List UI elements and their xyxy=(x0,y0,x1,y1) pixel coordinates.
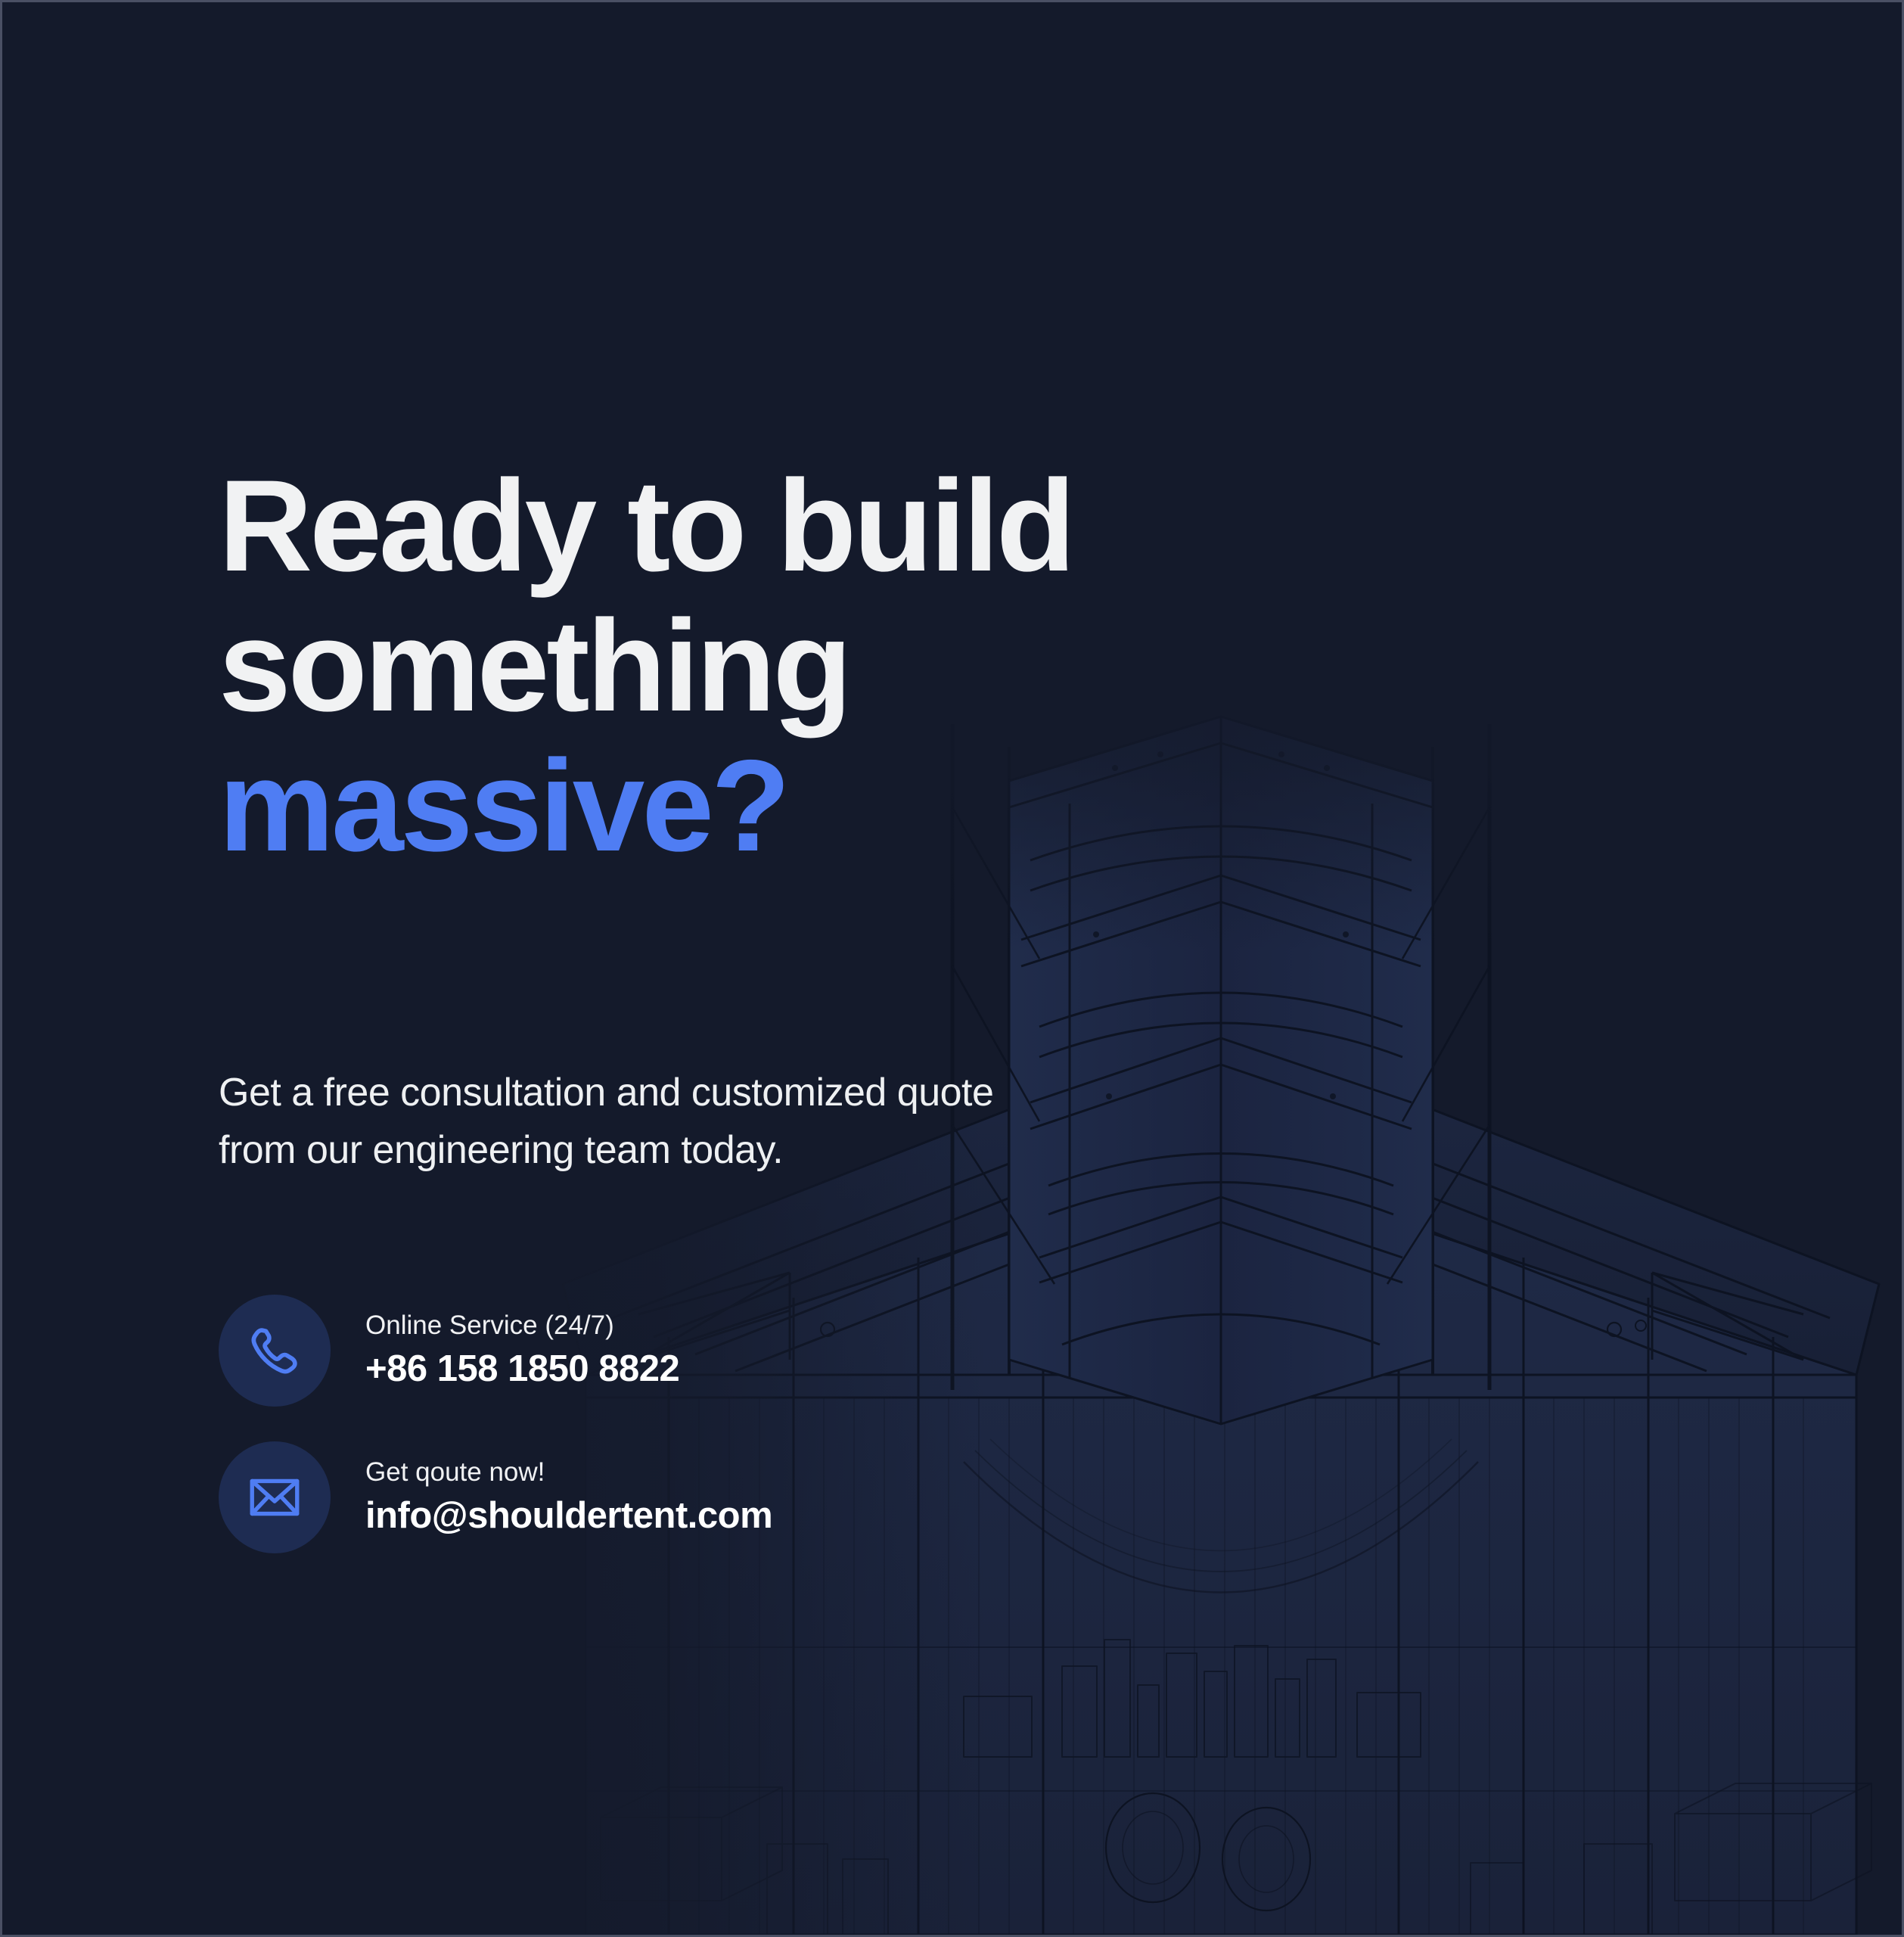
headline-line-1: Ready to build xyxy=(219,456,1505,596)
contact-row-email[interactable]: Get qoute now! info@shouldertent.com xyxy=(219,1440,772,1555)
envelope-icon xyxy=(219,1441,331,1553)
contact-label-phone: Online Service (24/7) xyxy=(365,1309,679,1342)
subheadline: Get a free consultation and customized q… xyxy=(219,1064,1278,1179)
contact-text-email: Get qoute now! info@shouldertent.com xyxy=(365,1456,772,1539)
contact-value-phone[interactable]: +86 158 1850 8822 xyxy=(365,1345,679,1392)
contact-list: Online Service (24/7) +86 158 1850 8822 … xyxy=(219,1293,772,1555)
subheadline-line-2: from our engineering team today. xyxy=(219,1121,1278,1179)
promo-poster: Ready to build something massive? Get a … xyxy=(0,0,1904,1937)
phone-icon xyxy=(219,1295,331,1407)
contact-value-email[interactable]: info@shouldertent.com xyxy=(365,1492,772,1539)
page-title: Ready to build something massive? xyxy=(219,456,1505,876)
contact-row-phone[interactable]: Online Service (24/7) +86 158 1850 8822 xyxy=(219,1293,772,1408)
subheadline-line-1: Get a free consultation and customized q… xyxy=(219,1064,1278,1121)
contact-label-email: Get qoute now! xyxy=(365,1456,772,1489)
contact-text-phone: Online Service (24/7) +86 158 1850 8822 xyxy=(365,1309,679,1392)
headline-line-2: something xyxy=(219,596,1505,736)
headline-line-3-accent: massive? xyxy=(219,736,1505,876)
